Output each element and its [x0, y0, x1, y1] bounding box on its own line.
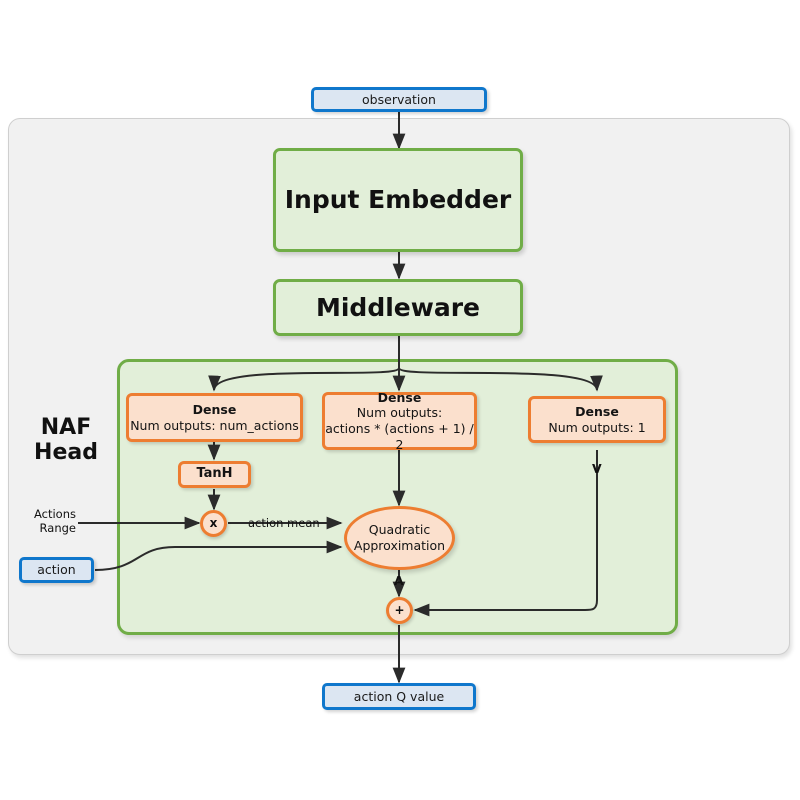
- quadratic-approximation-node[interactable]: Quadratic Approximation: [344, 506, 455, 570]
- action-label: action: [37, 562, 75, 578]
- add-operator[interactable]: +: [386, 597, 413, 624]
- middleware-box[interactable]: Middleware: [273, 279, 523, 336]
- diagram-canvas: observation Input Embedder Middleware De…: [0, 0, 800, 800]
- observation-box[interactable]: observation: [311, 87, 487, 112]
- advantage-label: A: [394, 573, 404, 588]
- dense-left-box[interactable]: Dense Num outputs: num_actions: [126, 393, 303, 442]
- dense-left-title: Dense: [193, 402, 237, 418]
- naf-head-title-line-2: Head: [24, 440, 108, 465]
- observation-label: observation: [362, 92, 436, 108]
- multiply-operator[interactable]: x: [200, 510, 227, 537]
- multiply-symbol: x: [210, 516, 218, 531]
- dense-right-box[interactable]: Dense Num outputs: 1: [528, 396, 666, 443]
- quadratic-line-2: Approximation: [354, 538, 445, 554]
- action-input-box[interactable]: action: [19, 557, 94, 583]
- tanh-box[interactable]: TanH: [178, 461, 251, 488]
- middleware-label: Middleware: [316, 292, 480, 323]
- dense-left-detail: Num outputs: num_actions: [130, 418, 299, 434]
- naf-head-title-line-1: NAF: [24, 415, 108, 440]
- action-q-value-box[interactable]: action Q value: [322, 683, 476, 710]
- input-embedder-box[interactable]: Input Embedder: [273, 148, 523, 252]
- action-q-value-label: action Q value: [354, 689, 444, 705]
- dense-mid-title: Dense: [378, 390, 422, 406]
- input-embedder-label: Input Embedder: [285, 184, 512, 215]
- dense-right-title: Dense: [575, 404, 619, 420]
- dense-right-detail: Num outputs: 1: [548, 420, 645, 436]
- add-symbol: +: [394, 603, 404, 618]
- actions-range-line-2: Range: [0, 521, 76, 535]
- dense-mid-detail-1: Num outputs:: [357, 405, 442, 421]
- action-mean-label: action mean: [248, 516, 320, 530]
- dense-mid-box[interactable]: Dense Num outputs: actions * (actions + …: [322, 392, 477, 450]
- naf-head-title: NAF Head: [24, 415, 108, 466]
- actions-range-label: Actions Range: [0, 507, 76, 535]
- actions-range-line-1: Actions: [0, 507, 76, 521]
- dense-mid-detail-2: actions * (actions + 1) / 2: [325, 421, 474, 452]
- quadratic-line-1: Quadratic: [369, 522, 430, 538]
- tanh-label: TanH: [196, 466, 232, 482]
- value-label: V: [592, 461, 602, 476]
